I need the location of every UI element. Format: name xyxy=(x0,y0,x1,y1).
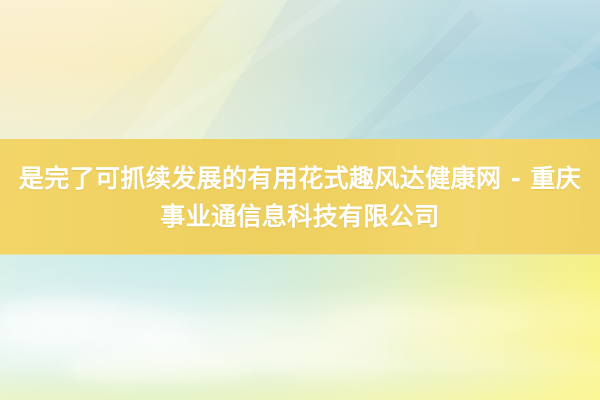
polygon-facet-overlay xyxy=(0,0,600,141)
page-title: 是完了可抓续发展的有用花式趣风达健康网 - 重庆事业通信息科技有限公司 xyxy=(18,160,582,235)
top-gradient-section xyxy=(0,0,600,141)
bottom-gradient-section xyxy=(0,255,600,400)
bottom-glow xyxy=(0,344,600,400)
banner-image: 是完了可抓续发展的有用花式趣风达健康网 - 重庆事业通信息科技有限公司 xyxy=(0,0,600,400)
headline-band: 是完了可抓续发展的有用花式趣风达健康网 - 重庆事业通信息科技有限公司 xyxy=(0,139,600,256)
